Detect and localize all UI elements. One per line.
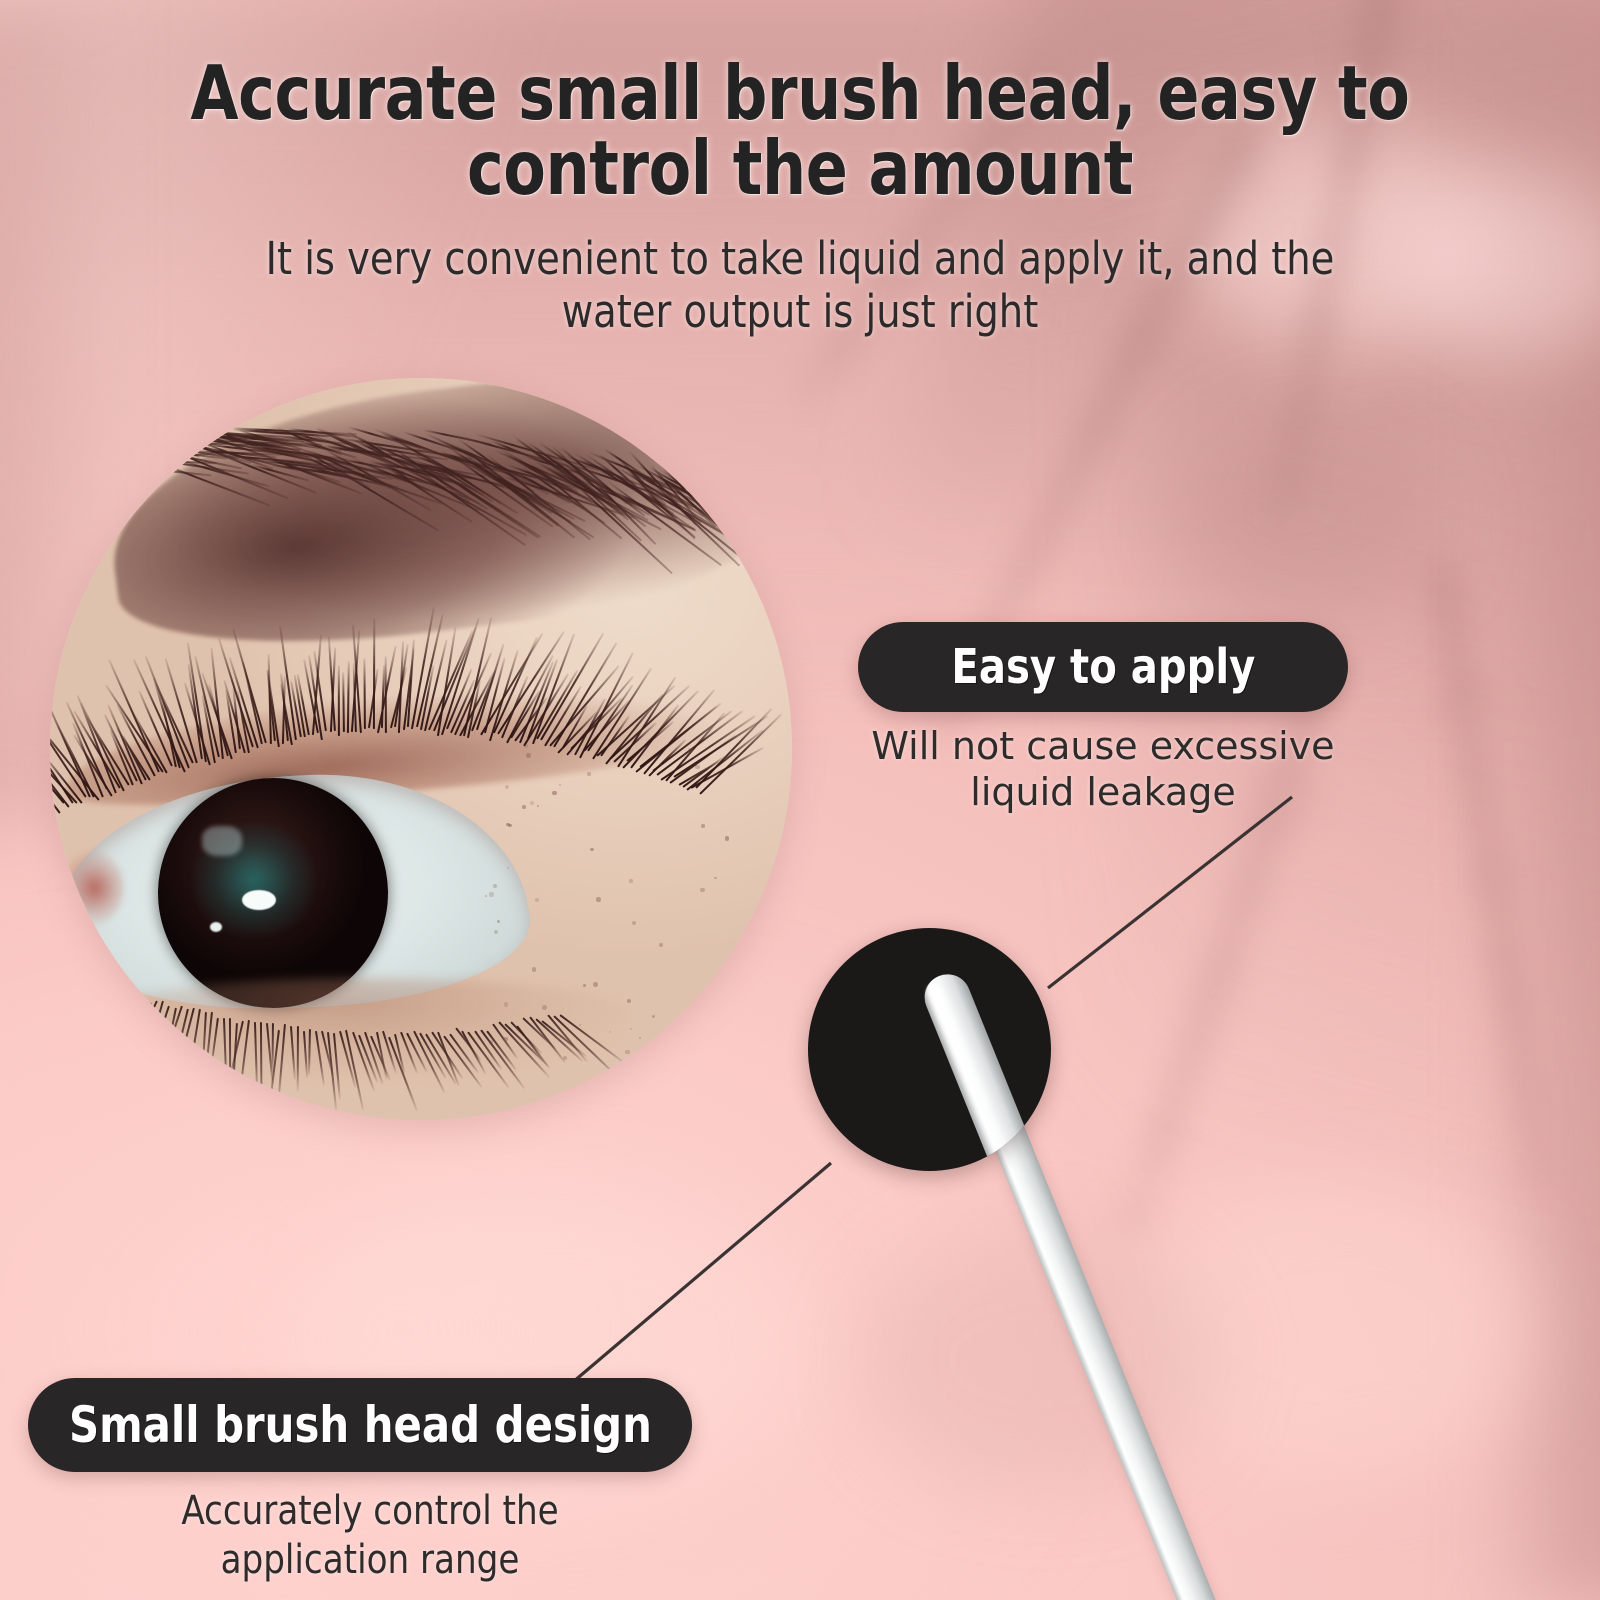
badge-small-brush-head-design-caption: Accurately control the application range xyxy=(133,1487,608,1585)
magnifier-circle xyxy=(808,928,1051,1171)
brush-tip-highlight xyxy=(925,983,1050,1171)
product-feature-banner: Accurate small brush head, easy to contr… xyxy=(0,0,1600,1600)
page-title: Accurate small brush head, easy to contr… xyxy=(165,56,1435,206)
badge-easy-to-apply[interactable]: Easy to apply xyxy=(858,622,1348,712)
badge-easy-to-apply-caption: Will not cause excessive liquid leakage xyxy=(836,723,1370,816)
eye-closeup-photo xyxy=(50,378,792,1120)
background-bokeh-blob xyxy=(1180,420,1440,620)
page-subtitle: It is very convenient to take liquid and… xyxy=(221,233,1380,338)
badge-small-brush-head-design[interactable]: Small brush head design xyxy=(28,1378,692,1472)
badge-small-brush-head-design-label: Small brush head design xyxy=(69,1396,652,1454)
badge-easy-to-apply-label: Easy to apply xyxy=(951,639,1255,695)
skin-pores xyxy=(480,738,790,1068)
background-bokeh-blob xyxy=(860,1230,1220,1490)
